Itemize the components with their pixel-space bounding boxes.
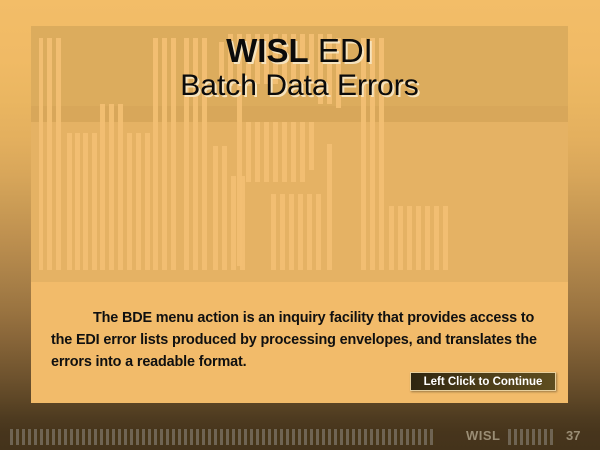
watermark-bar [255,122,260,182]
watermark-bar [300,122,305,182]
watermark-bar [127,133,132,270]
watermark-bar [282,122,287,182]
watermark-bar [231,176,236,270]
watermark-bar [109,104,114,270]
watermark-bar [246,122,251,182]
content-panel: WISL EDI Batch Data Errors The BDE menu … [31,26,568,403]
footer-page-number: 37 [566,428,580,443]
title-block: WISL EDI Batch Data Errors [31,34,568,101]
presentation-slide: WISL EDI Batch Data Errors The BDE menu … [0,0,600,450]
footer-bar-pattern-left [10,429,435,445]
watermark-bar [298,194,303,270]
title-primary: WISL [226,32,308,69]
watermark-bar [75,133,80,270]
page-subtitle: Batch Data Errors [31,71,568,102]
watermark-bar [273,122,278,182]
watermark-bar [407,206,412,270]
watermark-bar [92,133,97,270]
watermark-bar [222,146,227,270]
watermark-bar [398,206,403,270]
title-secondary: EDI [318,32,373,69]
watermark-bar [425,206,430,270]
watermark-bar [240,176,245,270]
panel-band-middle [31,106,568,122]
watermark-bar [443,206,448,270]
slide-footer: WISL 37 [0,420,600,450]
body-text: The BDE menu action is an inquiry facili… [51,307,548,373]
continue-button[interactable]: Left Click to Continue [410,372,556,391]
watermark-bar [136,133,141,270]
watermark-bar [434,206,439,270]
watermark-bar [83,133,88,270]
footer-bar-pattern-right [508,429,555,445]
watermark-bar [118,104,123,270]
watermark-bar [271,194,276,270]
watermark-bar [100,104,105,270]
watermark-bar [264,122,269,182]
watermark-bar [307,194,312,270]
watermark-bar [309,122,314,170]
watermark-bar [389,206,394,270]
watermark-bar [327,144,332,270]
watermark-bar [67,133,72,270]
watermark-bar [280,194,285,270]
watermark-bar [416,206,421,270]
watermark-bar [289,194,294,270]
watermark-bar [213,146,218,270]
watermark-bar [145,133,150,270]
panel-band-lower [31,122,568,282]
page-title: WISL EDI [31,34,568,68]
watermark-bar [316,194,321,270]
watermark-bar [291,122,296,182]
footer-brand: WISL [466,428,501,443]
